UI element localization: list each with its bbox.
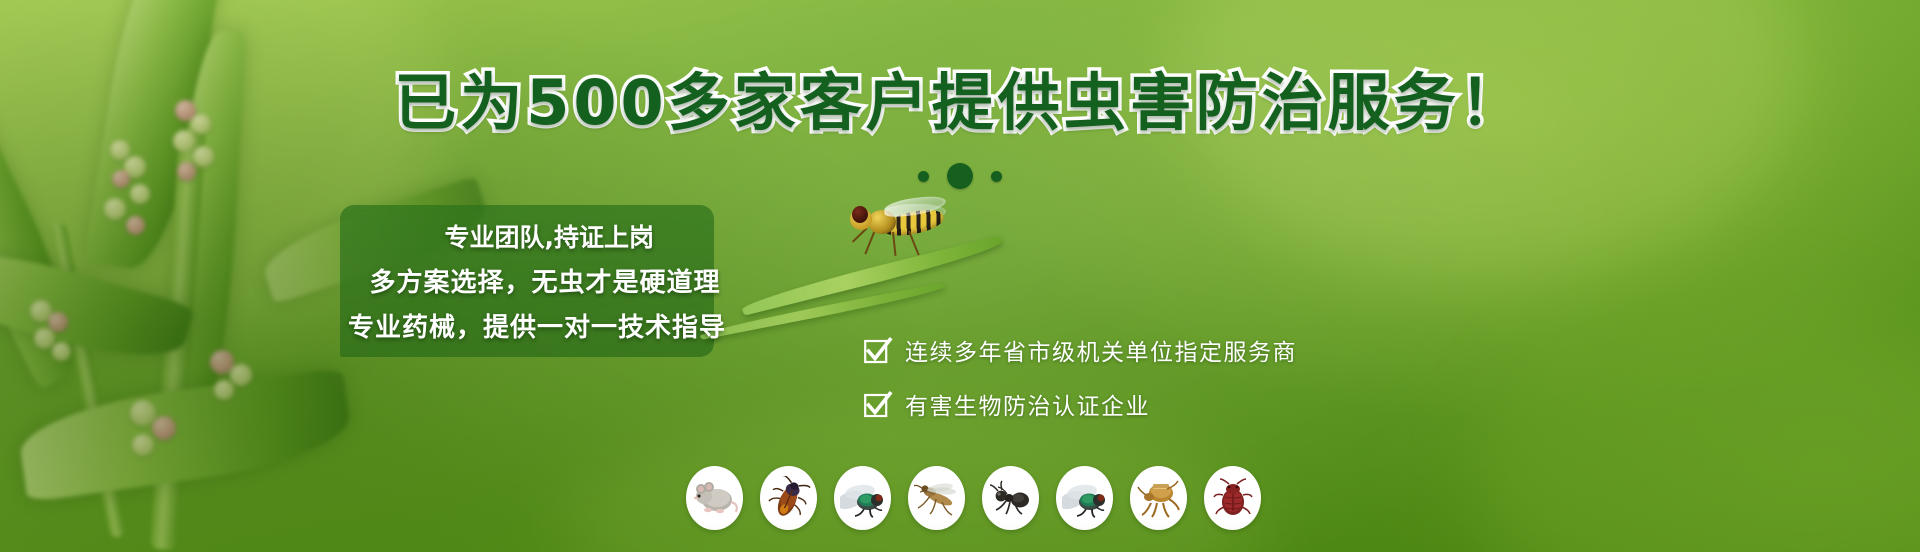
feature-check-list: 连续多年省市级机关单位指定服务商 有害生物防治认证企业 bbox=[864, 333, 1297, 421]
checkbox-checked-icon bbox=[864, 337, 891, 364]
fly-green-icon[interactable] bbox=[1056, 466, 1113, 530]
feature-text: 连续多年省市级机关单位指定服务商 bbox=[905, 333, 1297, 367]
pest-icon-list bbox=[686, 466, 1261, 530]
feature-panel-text: 专业团队,持证上岗 多方案选择，无虫才是硬道理 专业药械，提供一对一技术指导 bbox=[330, 205, 730, 357]
flea-icon[interactable] bbox=[1130, 466, 1187, 530]
panel-line-2: 多方案选择，无虫才是硬道理 bbox=[330, 262, 730, 299]
feature-text: 有害生物防治认证企业 bbox=[905, 387, 1150, 421]
decorative-dot bbox=[991, 171, 1002, 182]
list-item: 连续多年省市级机关单位指定服务商 bbox=[864, 333, 1297, 367]
promo-banner: 已为500多家客户提供虫害防治服务！ 专业团队,持证上岗 多方案选择，无虫才是硬… bbox=[0, 0, 1920, 552]
decorative-dot bbox=[947, 163, 973, 189]
list-item: 有害生物防治认证企业 bbox=[864, 387, 1297, 421]
fly-icon[interactable] bbox=[834, 466, 891, 530]
checkbox-checked-icon bbox=[864, 391, 891, 418]
decorative-dot bbox=[918, 171, 929, 182]
hoverfly-icon bbox=[848, 196, 968, 258]
banner-headline: 已为500多家客户提供虫害防治服务！ bbox=[0, 72, 1920, 134]
cockroach-icon[interactable] bbox=[760, 466, 817, 530]
mouse-icon[interactable] bbox=[686, 466, 743, 530]
panel-line-3: 专业药械，提供一对一技术指导 bbox=[330, 307, 730, 344]
bedbug-icon[interactable] bbox=[1204, 466, 1261, 530]
panel-line-1: 专业团队,持证上岗 bbox=[330, 218, 730, 254]
mosquito-icon[interactable] bbox=[908, 466, 965, 530]
ant-icon[interactable] bbox=[982, 466, 1039, 530]
decorative-dots bbox=[0, 163, 1920, 189]
